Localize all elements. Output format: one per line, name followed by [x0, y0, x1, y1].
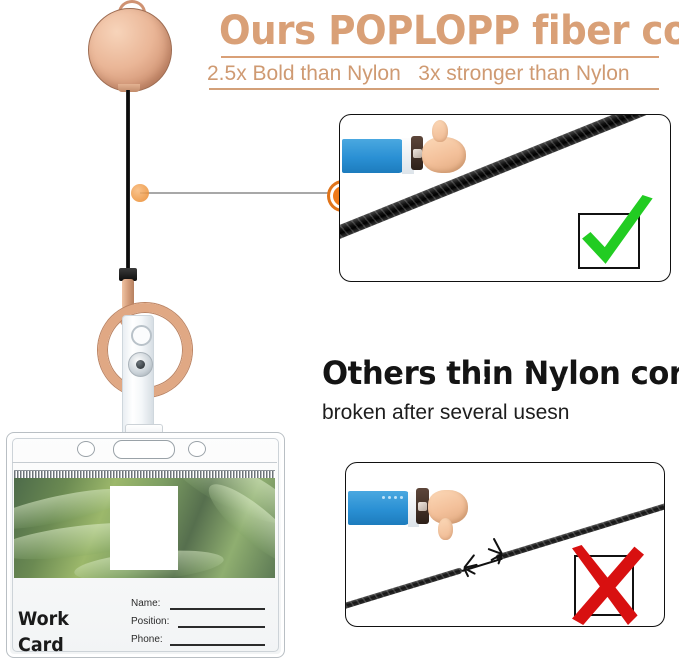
- card-divider: [12, 462, 277, 463]
- broken-nylon-cord-left: [345, 567, 463, 614]
- badge-reel-body: [88, 8, 172, 92]
- page-title: Ours POPLOPP fiber cord: [219, 8, 638, 56]
- page-subtitle: 2.5x Bold than Nylon 3x stronger than Ny…: [207, 60, 667, 88]
- cord-braid-texture: [345, 567, 463, 614]
- name-field-label: Name:: [131, 598, 160, 609]
- phone-field-label: Phone:: [131, 634, 163, 645]
- red-cross-icon: [564, 545, 644, 625]
- sleeve-studs: [382, 496, 403, 499]
- phone-field-line: [170, 644, 265, 646]
- work-card-title: Work Card: [18, 606, 119, 632]
- name-field-line: [170, 608, 265, 610]
- thumb-down-digit: [438, 518, 453, 540]
- photo-placeholder: [110, 486, 178, 570]
- others-subtitle: broken after several usesn: [322, 398, 679, 428]
- callout-line: [140, 192, 340, 194]
- good-cord-panel: [339, 114, 671, 282]
- card-hole-right: [188, 441, 206, 457]
- clip-hole: [131, 325, 152, 346]
- clip-rivet: [128, 352, 153, 377]
- subtitle-underline: [209, 88, 659, 90]
- thumbs-up-icon: [422, 137, 466, 173]
- callout-source-marker: [131, 184, 149, 202]
- thumb-up-digit: [432, 120, 448, 142]
- headline-underline: [221, 56, 659, 58]
- position-field-label: Position:: [131, 616, 169, 627]
- sleeve: [342, 139, 404, 173]
- green-check-icon: [568, 195, 660, 279]
- card-slot: [113, 440, 175, 459]
- card-hole-left: [77, 441, 95, 457]
- fiber-cord: [126, 90, 130, 278]
- bad-cord-panel: [345, 462, 665, 627]
- position-field-line: [178, 626, 265, 628]
- others-title: Others thin Nylon cord: [322, 355, 658, 391]
